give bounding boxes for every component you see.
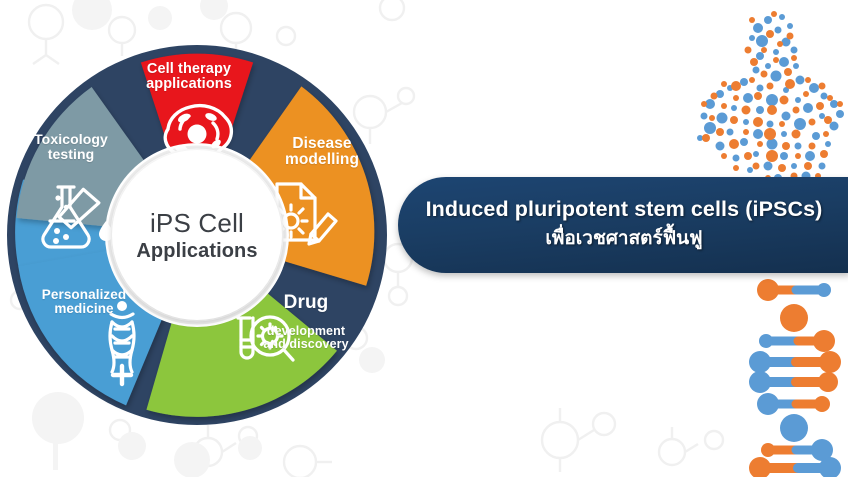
ips-cell-applications-wheel: Cell therapy applications Disease modell… [2,40,392,430]
banner-subtitle-thai: เพื่อเวชศาสตร์ฟื้นฟู [545,223,702,253]
wheel-center-title-line1: iPS Cell [150,208,244,239]
dna-helix-graphic [736,278,848,477]
slide-canvas: Cell therapy applications Disease modell… [0,0,848,477]
wheel-center-title-line2: Applications [136,240,257,263]
dotted-human-figure [690,8,848,194]
title-banner: Induced pluripotent stem cells (iPSCs) เ… [398,177,848,273]
banner-title: Induced pluripotent stem cells (iPSCs) [426,197,823,222]
wheel-center-hub: iPS Cell Applications [112,150,282,320]
